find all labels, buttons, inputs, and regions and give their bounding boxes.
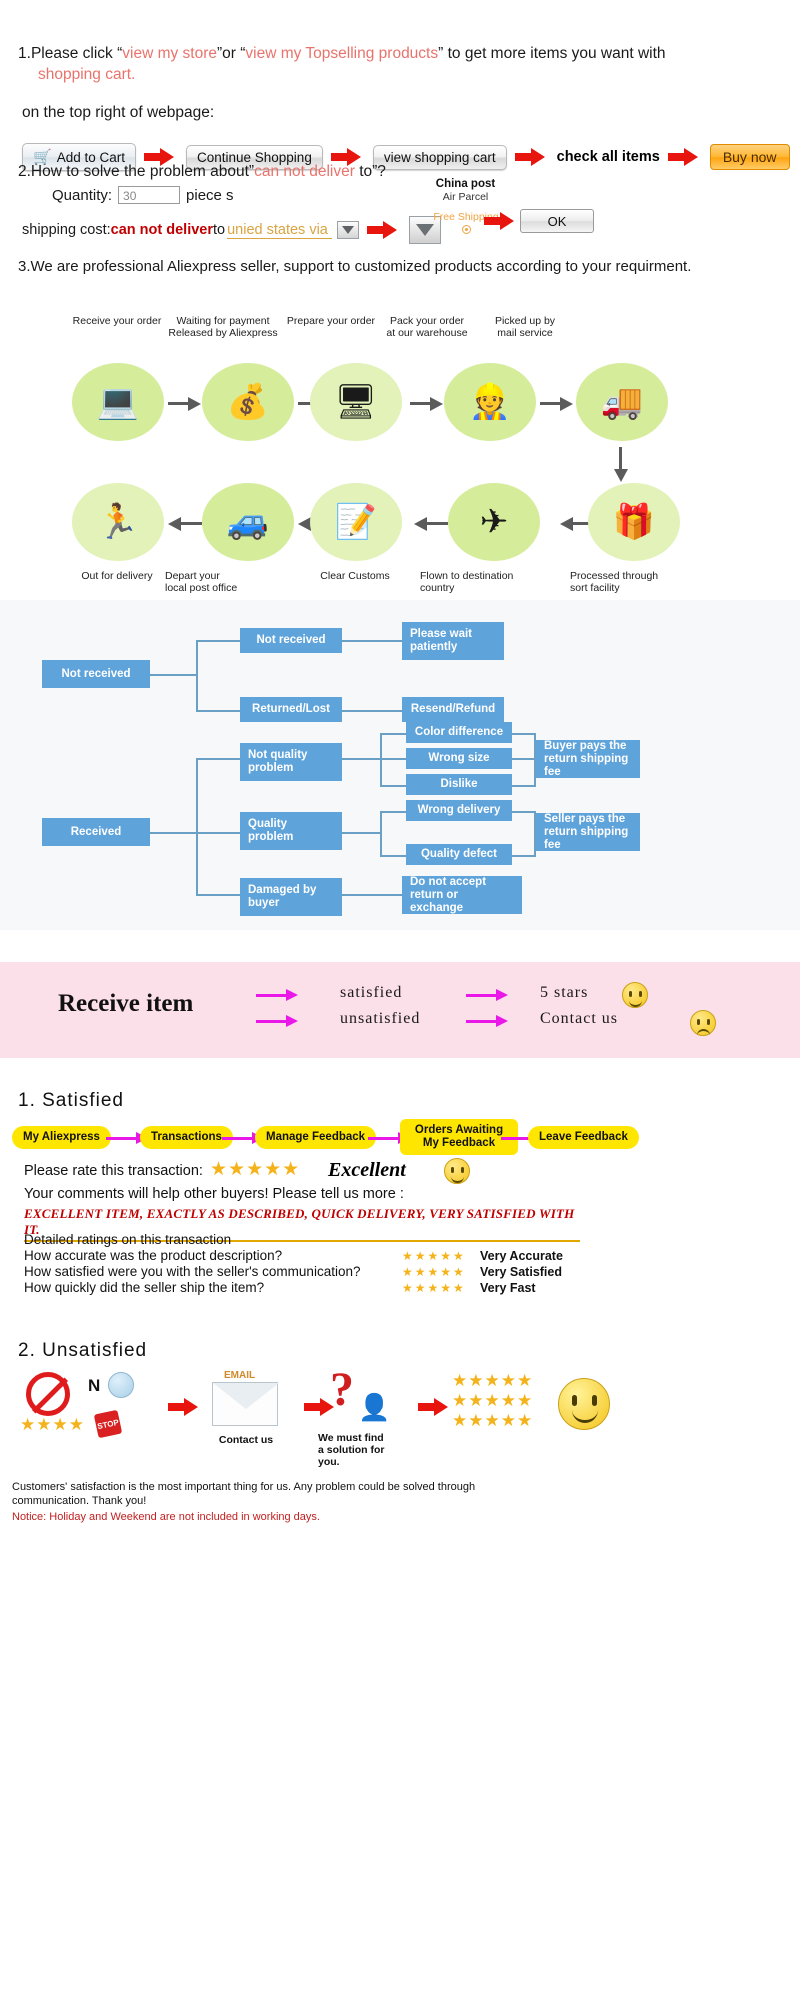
tree-node-damaged-by-buyer: Damaged by buyer [240, 878, 342, 916]
big-smiley-icon [558, 1378, 610, 1430]
section-1-text-after: ” to get more items you want with [438, 45, 665, 62]
flow-node-depart-post-office: 🚙 [202, 483, 294, 561]
courier-running-icon: 🏃 [72, 483, 164, 561]
quantity-unit-label: piece s [186, 187, 234, 204]
parcel-sorting-icon: 🎁 [588, 483, 680, 561]
carrier-name: China post [418, 178, 513, 190]
detailed-value-2: Very Satisfied [480, 1265, 562, 1279]
arrow-right-icon-4 [668, 148, 702, 166]
tree-line-4 [196, 710, 240, 712]
tree-line-18 [512, 758, 536, 760]
tree-line-21 [342, 832, 382, 834]
footer-text-1: Customers' satisfaction is the most impo… [12, 1481, 475, 1493]
tree-line-28 [342, 894, 402, 896]
tree-node-seller-pays: Seller pays the return shipping fee [536, 813, 640, 851]
flow-node-picked-up: 🚚 [500, 363, 592, 441]
smiley-sad-icon [690, 1010, 716, 1036]
delivery-truck-icon: 🚚 [576, 363, 668, 441]
tree-line-22 [380, 811, 382, 855]
flow-label-prepare-order: Prepare your order [276, 315, 386, 327]
footer-text-2: communication. Thank you! [12, 1495, 146, 1507]
can-not-deliver-text: can not deliver [111, 222, 213, 238]
flow-arrow-1 [168, 397, 202, 411]
tree-node-quality-defect: Quality defect [406, 844, 512, 865]
monitor-box-icon: 🖥 [310, 363, 402, 441]
flow-label-pack-order: Pack your orderat our warehouse [372, 315, 482, 339]
tree-node-wrong-size: Wrong size [406, 748, 512, 769]
flow-label-clear-customs: Clear Customs [300, 570, 410, 582]
arrow-right-icon-5 [367, 221, 401, 239]
shipping-to-text: to [213, 222, 225, 238]
rate-transaction-prompt: Please rate this transaction: [24, 1163, 203, 1179]
arrow-right-icon-7 [168, 1398, 202, 1416]
arrow-magenta-icon-3 [466, 988, 510, 1004]
detailed-question-1: How accurate was the product description… [24, 1248, 282, 1263]
tree-node-no-return: Do not accept return or exchange [402, 876, 522, 914]
tree-line-5 [342, 640, 402, 642]
ok-button[interactable]: OK [520, 209, 594, 233]
flow-node-out-for-delivery: 🏃 [72, 483, 164, 561]
tree-node-buyer-pays: Buyer pays the return shipping fee [536, 740, 640, 778]
step-transactions[interactable]: Transactions [140, 1126, 233, 1149]
receive-item-banner: Receive item satisfied unsatisfied 5 sta… [0, 962, 800, 1058]
section-1-text-before: Please click “ [31, 45, 122, 62]
section-2-heading-a: 2.How to solve the problem about” [18, 163, 254, 180]
tree-line-25 [512, 811, 536, 813]
carrier-info: China post Air Parcel [418, 178, 513, 203]
arrow-magenta-icon-4 [466, 1014, 510, 1030]
unsatisfied-heading: 2. Unsatisfied [18, 1340, 147, 1362]
footer-notice: Notice: Holiday and Weekend are not incl… [12, 1510, 320, 1524]
tree-line-12 [342, 758, 382, 760]
section-1-line-2: shopping cart. [38, 66, 135, 84]
money-bag-icon: 💰 [202, 363, 294, 441]
arrow-magenta-icon-1 [256, 988, 300, 1004]
quantity-label: Quantity: [52, 187, 112, 204]
no-entry-icon [26, 1372, 70, 1416]
section-2-heading-emphasis: can not deliver [254, 163, 355, 180]
receive-item-title: Receive item [58, 990, 193, 1018]
person-at-computer-icon: 💻 [72, 363, 164, 441]
letter-n-label: N [88, 1376, 100, 1396]
buy-now-label: Buy now [723, 149, 777, 165]
tree-line-19 [512, 785, 536, 787]
arrow-right-icon-3 [515, 148, 549, 166]
worried-face-icon [108, 1372, 134, 1398]
shipping-process-flow: Receive your order Waiting for paymentRe… [0, 305, 800, 590]
tree-root-not-received: Not received [42, 660, 150, 688]
contact-us-caption: Contact us [208, 1434, 284, 1446]
country-dropdown-button[interactable] [337, 221, 359, 239]
tree-line-3 [196, 640, 240, 642]
buy-now-button[interactable]: Buy now [710, 144, 790, 170]
detailed-stars-3: ★★★★★ [402, 1281, 466, 1295]
thinking-person-icon: 👤 [358, 1392, 390, 1423]
view-topselling-products-link[interactable]: view my Topselling products [245, 45, 438, 62]
flow-label-picked-up: Picked up bymail service [470, 315, 580, 339]
tree-node-please-wait: Please wait patiently [402, 622, 504, 660]
tree-line-10 [196, 832, 240, 834]
tree-line-1 [150, 674, 198, 676]
email-label: EMAIL [224, 1370, 255, 1381]
step-leave-feedback[interactable]: Leave Feedback [528, 1126, 639, 1149]
tree-line-24 [380, 855, 406, 857]
tree-line-14 [380, 733, 406, 735]
branch-satisfied-label: satisfied [340, 984, 402, 1002]
arrow-right-icon-9 [418, 1398, 452, 1416]
flow-label-out-for-delivery: Out for delivery [62, 570, 172, 582]
section-1-line-3: on the top right of webpage: [22, 104, 214, 122]
flow-label-flown-destination: Flown to destinationcountry [420, 570, 550, 594]
smiley-rating-icon [444, 1158, 470, 1184]
tree-line-26 [512, 855, 536, 857]
flow-label-sort-facility: Processed throughsort facility [570, 570, 700, 594]
flow-node-receive-order: 💻 [72, 363, 164, 441]
chevron-down-icon-1 [342, 226, 354, 234]
tree-line-8 [196, 758, 198, 894]
quantity-row: Quantity: 30 piece s [52, 186, 234, 204]
arrow-right-icon-6 [484, 212, 518, 230]
shipping-cost-label: shipping cost: [22, 222, 111, 238]
view-shopping-cart-label: view shopping cart [384, 150, 496, 165]
flow-node-prepare-order: 🖥 [298, 363, 390, 441]
good-rating-stars-row-1: ★★★★★ [452, 1372, 533, 1389]
stop-sign-icon: STOP [94, 1410, 122, 1438]
detailed-value-1: Very Accurate [480, 1249, 563, 1263]
footer-note-line-1: Customers' satisfaction is the most impo… [12, 1480, 552, 1508]
rating-stars[interactable]: ★★★★★ [210, 1158, 300, 1181]
flow-arrow-7 [414, 517, 448, 531]
step-my-aliexpress[interactable]: My Aliexpress [12, 1126, 111, 1149]
customs-stamp-icon: 📝 [310, 483, 402, 561]
section-1-text-mid: ”or “ [217, 45, 245, 62]
arrow-magenta-icon-2 [256, 1014, 300, 1030]
tree-node-dislike: Dislike [406, 774, 512, 795]
result-5-stars-label: 5 stars [540, 984, 588, 1002]
satisfied-heading: 1. Satisfied [18, 1090, 124, 1112]
promotional-product-description-page: 1.Please click “view my store”or “view m… [0, 0, 800, 2000]
tree-root-received: Received [42, 818, 150, 846]
tree-line-15 [380, 758, 406, 760]
shipping-cost-row: shipping cost: can not deliver to unied … [22, 216, 441, 244]
section-2-heading-c: to”? [355, 163, 386, 180]
good-rating-stars-row-2: ★★★★★ [452, 1392, 533, 1409]
flow-node-waiting-payment: 💰 [202, 363, 294, 441]
tree-line-6 [342, 710, 402, 712]
result-contact-us-label: Contact us [540, 1010, 618, 1028]
question-mark-icon: ? [330, 1362, 354, 1417]
delivery-van-icon: 🚙 [202, 483, 294, 561]
comment-prompt: Your comments will help other buyers! Pl… [24, 1186, 404, 1202]
tree-line-16 [380, 785, 406, 787]
tree-node-not-received: Not received [240, 628, 342, 653]
tree-node-color-difference: Color difference [406, 722, 512, 743]
dispute-decision-tree: Not received Not received Returned/Lost … [0, 600, 800, 930]
good-rating-stars-row-3: ★★★★★ [452, 1412, 533, 1429]
tree-line-7 [150, 832, 198, 834]
detailed-value-3: Very Fast [480, 1281, 536, 1295]
view-my-store-link[interactable]: view my store [122, 45, 217, 62]
tree-line-23 [380, 811, 406, 813]
section-1-line-1: 1.Please click “view my store”or “view m… [18, 45, 666, 63]
tree-line-9 [196, 758, 240, 760]
tree-node-quality-problem: Quality problem [240, 812, 342, 850]
flow-label-depart-post-office: Depart yourlocal post office [165, 570, 275, 594]
tree-node-resend-refund: Resend/Refund [402, 697, 504, 722]
flow-node-pack-order: 👷 [396, 363, 488, 441]
section-2-heading: 2.How to solve the problem about”can not… [18, 163, 386, 181]
tree-node-not-quality-problem: Not quality problem [240, 743, 342, 781]
flow-node-flown-to-destination: ✈ [448, 483, 540, 561]
view-shopping-cart-button[interactable]: view shopping cart [373, 145, 507, 170]
flow-node-sort-facility: 🎁 [588, 483, 680, 561]
tree-line-11 [196, 894, 240, 896]
detailed-stars-1: ★★★★★ [402, 1249, 466, 1263]
solution-caption: We must finda solution foryou. [318, 1432, 400, 1468]
low-rating-stars: ★★★★ [20, 1416, 85, 1433]
detailed-ratings-title: Detailed ratings on this transaction [24, 1232, 231, 1247]
flow-arrow-5 [168, 517, 202, 531]
tree-node-wrong-delivery: Wrong delivery [406, 800, 512, 821]
tree-node-returned-lost: Returned/Lost [240, 697, 342, 722]
smiley-happy-icon [622, 982, 648, 1008]
flow-node-clear-customs: 📝 [310, 483, 402, 561]
detailed-stars-2: ★★★★★ [402, 1265, 466, 1279]
country-select-value[interactable]: unied states via [227, 222, 332, 239]
airplane-icon: ✈ [448, 483, 540, 561]
detailed-question-2: How satisfied were you with the seller's… [24, 1264, 360, 1279]
flow-arrow-down [614, 447, 628, 483]
stop-label: STOP [96, 1417, 119, 1430]
section-3-heading: 3.We are professional Aliexpress seller,… [18, 258, 691, 275]
branch-unsatisfied-label: unsatisfied [340, 1010, 420, 1028]
tree-line-17 [512, 733, 536, 735]
section-1-number: 1. [18, 45, 31, 62]
flow-label-waiting-payment: Waiting for paymentReleased by Aliexpres… [158, 315, 288, 339]
rating-word-excellent: Excellent [328, 1159, 406, 1182]
email-envelope-icon [212, 1382, 278, 1426]
quantity-input[interactable]: 30 [118, 186, 180, 204]
detailed-question-3: How quickly did the seller ship the item… [24, 1280, 264, 1295]
tree-line-2 [196, 640, 198, 710]
radio-selected-icon[interactable] [462, 225, 471, 234]
step-manage-feedback[interactable]: Manage Feedback [255, 1126, 376, 1149]
check-all-items-label[interactable]: check all items [557, 149, 660, 165]
carrier-service: Air Parcel [418, 191, 513, 203]
flow-label-receive-order: Receive your order [62, 315, 172, 327]
